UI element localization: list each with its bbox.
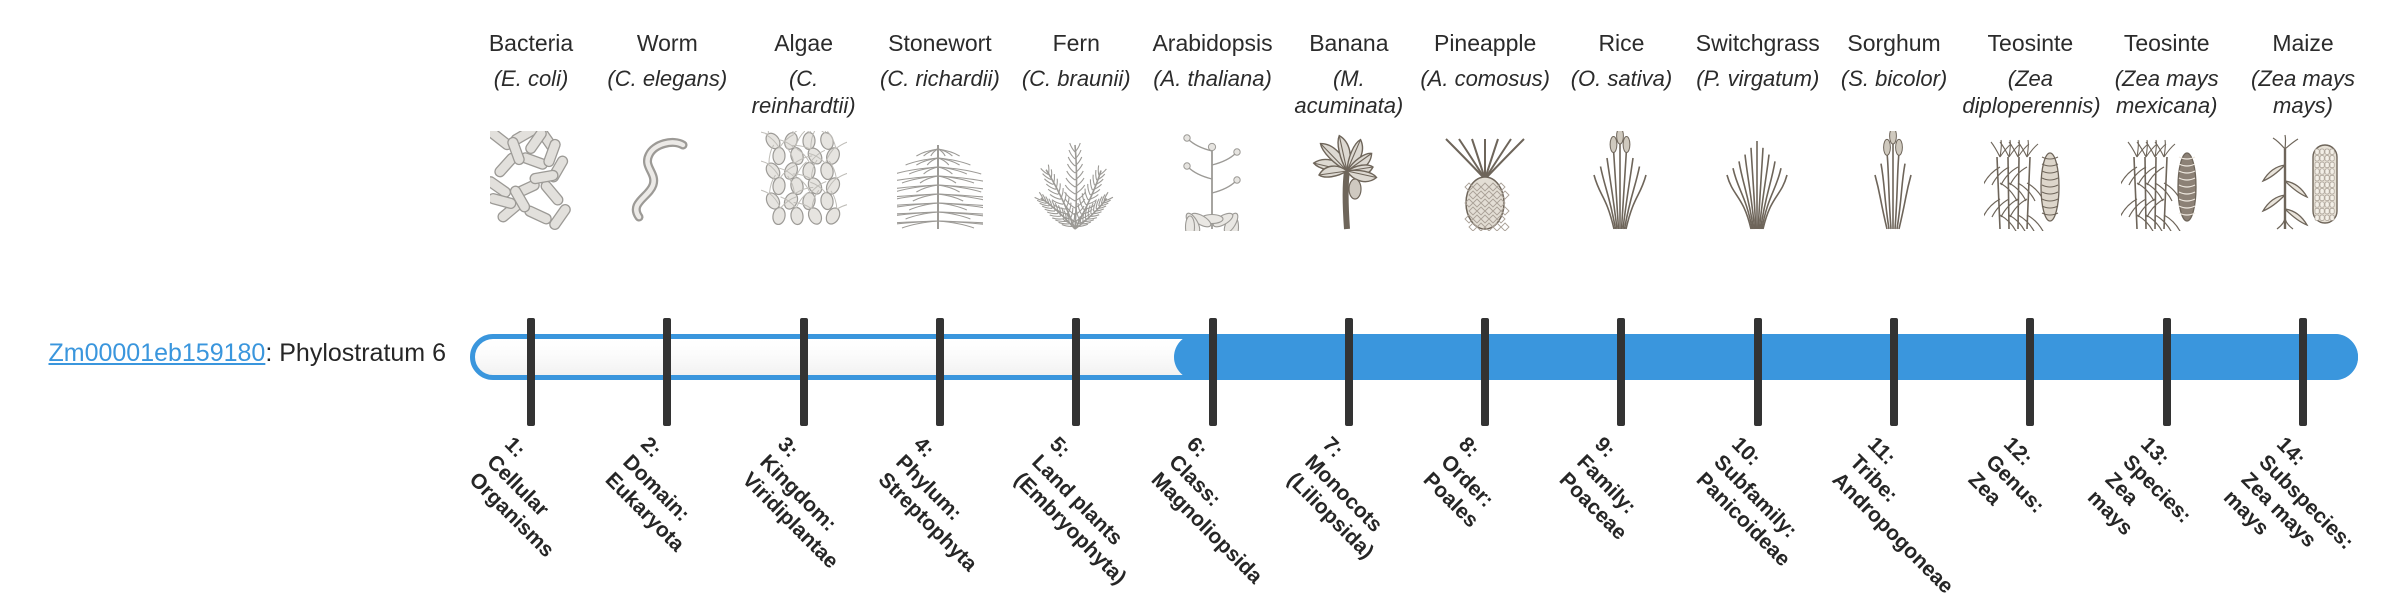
species-column: Maize(Zea mays mays) bbox=[2235, 28, 2371, 231]
species-column: Bacteria(E. coli) bbox=[463, 28, 599, 231]
fern-frond-icon bbox=[1008, 126, 1144, 231]
stratum-label: 4: Phylum: Streptophyta bbox=[873, 432, 1018, 577]
gene-id-link[interactable]: Zm00001eb159180 bbox=[48, 339, 265, 367]
species-common-name: Worm bbox=[599, 28, 735, 58]
stratum-tick bbox=[1209, 318, 1217, 426]
stratum-rank-name: Class: Magnoliopsida bbox=[1146, 450, 1266, 588]
bacteria-rods-icon bbox=[463, 126, 599, 231]
switchgrass-icon bbox=[1690, 126, 1826, 231]
stratum-rank-name: Order: Poales bbox=[1419, 450, 1498, 532]
teosinte-plant-ear-icon bbox=[2099, 126, 2235, 231]
species-column: Teosinte(Zea diploperennis) bbox=[1962, 28, 2098, 231]
species-scientific-name: (C. richardii) bbox=[872, 65, 1008, 121]
species-common-name: Pineapple bbox=[1417, 28, 1553, 58]
gene-phylostratum-label: Zm00001eb159180: Phylostratum 6 bbox=[0, 338, 446, 368]
stratum-tick bbox=[1617, 318, 1625, 426]
stratum-rank-name: Land plants (Embryophyta) bbox=[1010, 450, 1131, 589]
teosinte-plant-ear-icon bbox=[1962, 126, 2098, 231]
species-scientific-name: (C. braunii) bbox=[1008, 65, 1144, 121]
species-scientific-name: (A. comosus) bbox=[1417, 65, 1553, 121]
stratum-rank-name: Tribe: Andropogoneae bbox=[1828, 450, 1958, 598]
species-column: Fern(C. braunii) bbox=[1008, 28, 1144, 231]
species-common-name: Arabidopsis bbox=[1145, 28, 1281, 58]
stratum-label: 7: Monocots (Liliopsida) bbox=[1282, 432, 1414, 564]
stratum-label: 8: Order: Poales bbox=[1418, 432, 1519, 533]
stratum-tick bbox=[1754, 318, 1762, 426]
stratum-rank-name: Genus: Zea bbox=[1964, 450, 2049, 517]
species-scientific-name: (Zea diploperennis) bbox=[1962, 65, 2098, 121]
stratum-rank-name: Phylum: Streptophyta bbox=[874, 450, 982, 576]
stratum-label: 13: Species: Zea mays bbox=[2082, 432, 2214, 564]
banana-plant-icon bbox=[1281, 126, 1417, 231]
species-column: Algae(C. reinhardtii) bbox=[736, 28, 872, 231]
pineapple-icon bbox=[1417, 126, 1553, 231]
stratum-label: 9: Family: Poaceae bbox=[1554, 432, 1667, 545]
species-common-name: Teosinte bbox=[2099, 28, 2235, 58]
species-column: Pineapple(A. comosus) bbox=[1417, 28, 1553, 231]
species-scientific-name: (E. coli) bbox=[463, 65, 599, 121]
stratum-tick bbox=[663, 318, 671, 426]
stratum-tick bbox=[1345, 318, 1353, 426]
algae-cells-icon bbox=[736, 126, 872, 231]
rice-plant-icon bbox=[1553, 126, 1689, 231]
species-common-name: Algae bbox=[736, 28, 872, 58]
stratum-rank-name: Species: Zea mays bbox=[2083, 450, 2196, 540]
species-scientific-name: (C. elegans) bbox=[599, 65, 735, 121]
stratum-rank-name: Cellular Organisms bbox=[465, 450, 559, 562]
maize-plant-ear-icon bbox=[2235, 126, 2371, 231]
species-common-name: Switchgrass bbox=[1690, 28, 1826, 58]
species-common-name: Sorghum bbox=[1826, 28, 1962, 58]
species-column: Worm(C. elegans) bbox=[599, 28, 735, 231]
stratum-tick bbox=[800, 318, 808, 426]
stratum-label: 2: Domain: Eukaryota bbox=[600, 432, 725, 557]
species-common-name: Stonewort bbox=[872, 28, 1008, 58]
stonewort-icon bbox=[872, 126, 1008, 231]
stratum-label: 12: Genus: Zea bbox=[1963, 432, 2067, 536]
species-common-name: Bacteria bbox=[463, 28, 599, 58]
species-scientific-name: (M. acuminata) bbox=[1281, 65, 1417, 121]
stratum-tick bbox=[2163, 318, 2171, 426]
stratum-rank-name: Family: Poaceae bbox=[1555, 450, 1641, 544]
stratum-rank-name: Monocots (Liliopsida) bbox=[1283, 450, 1387, 563]
stratum-label: 1: Cellular Organisms bbox=[464, 432, 595, 563]
species-column: Teosinte(Zea mays mexicana) bbox=[2099, 28, 2235, 231]
nematode-worm-icon bbox=[599, 126, 735, 231]
species-column: Arabidopsis(A. thaliana) bbox=[1145, 28, 1281, 231]
stratum-tick bbox=[1890, 318, 1898, 426]
species-common-name: Teosinte bbox=[1962, 28, 2098, 58]
arabidopsis-icon bbox=[1145, 126, 1281, 231]
species-column: Rice(O. sativa) bbox=[1553, 28, 1689, 231]
stratum-label: 11: Tribe: Andropogoneae bbox=[1827, 432, 1994, 599]
species-scientific-name: (A. thaliana) bbox=[1145, 65, 1281, 121]
species-column: Banana(M. acuminata) bbox=[1281, 28, 1417, 231]
stratum-label: 3: Kingdom: Viridiplantae bbox=[737, 432, 879, 574]
stratum-rank-name: Kingdom: Viridiplantae bbox=[737, 450, 842, 573]
stratum-label: 6: Class: Magnoliopsida bbox=[1145, 432, 1302, 589]
stratum-tick bbox=[527, 318, 535, 426]
species-scientific-name: (P. virgatum) bbox=[1690, 65, 1826, 121]
phylostratum-figure: Zm00001eb159180: Phylostratum 6 Bacteria… bbox=[0, 0, 2400, 580]
species-scientific-name: (Zea mays mexicana) bbox=[2099, 65, 2235, 121]
phylostratum-value-text: Phylostratum 6 bbox=[279, 339, 446, 367]
stratum-tick bbox=[936, 318, 944, 426]
species-common-name: Maize bbox=[2235, 28, 2371, 58]
phylostratum-track[interactable] bbox=[470, 334, 2358, 380]
species-common-name: Fern bbox=[1008, 28, 1144, 58]
species-column: Sorghum(S. bicolor) bbox=[1826, 28, 1962, 231]
stratum-rank-name: Subspecies: Zea mays mays bbox=[2219, 450, 2358, 554]
stratum-label: 14: Subspecies: Zea mays mays bbox=[2218, 432, 2376, 590]
stratum-label: 10: Subfamily: Panicoideae bbox=[1691, 432, 1831, 572]
stratum-rank-name: Domain: Eukaryota bbox=[601, 450, 694, 556]
sorghum-icon bbox=[1826, 126, 1962, 231]
stratum-tick bbox=[2299, 318, 2307, 426]
species-scientific-name: (Zea mays mays) bbox=[2235, 65, 2371, 121]
gene-label-separator: : bbox=[265, 339, 279, 367]
species-scientific-name: (C. reinhardtii) bbox=[736, 65, 872, 121]
stratum-label: 5: Land plants (Embryophyta) bbox=[1009, 432, 1167, 590]
species-column: Switchgrass(P. virgatum) bbox=[1690, 28, 1826, 231]
species-scientific-name: (S. bicolor) bbox=[1826, 65, 1962, 121]
stratum-tick bbox=[2026, 318, 2034, 426]
stratum-tick bbox=[1072, 318, 1080, 426]
species-common-name: Banana bbox=[1281, 28, 1417, 58]
species-column: Stonewort(C. richardii) bbox=[872, 28, 1008, 231]
species-common-name: Rice bbox=[1553, 28, 1689, 58]
stratum-tick bbox=[1481, 318, 1489, 426]
species-scientific-name: (O. sativa) bbox=[1553, 65, 1689, 121]
